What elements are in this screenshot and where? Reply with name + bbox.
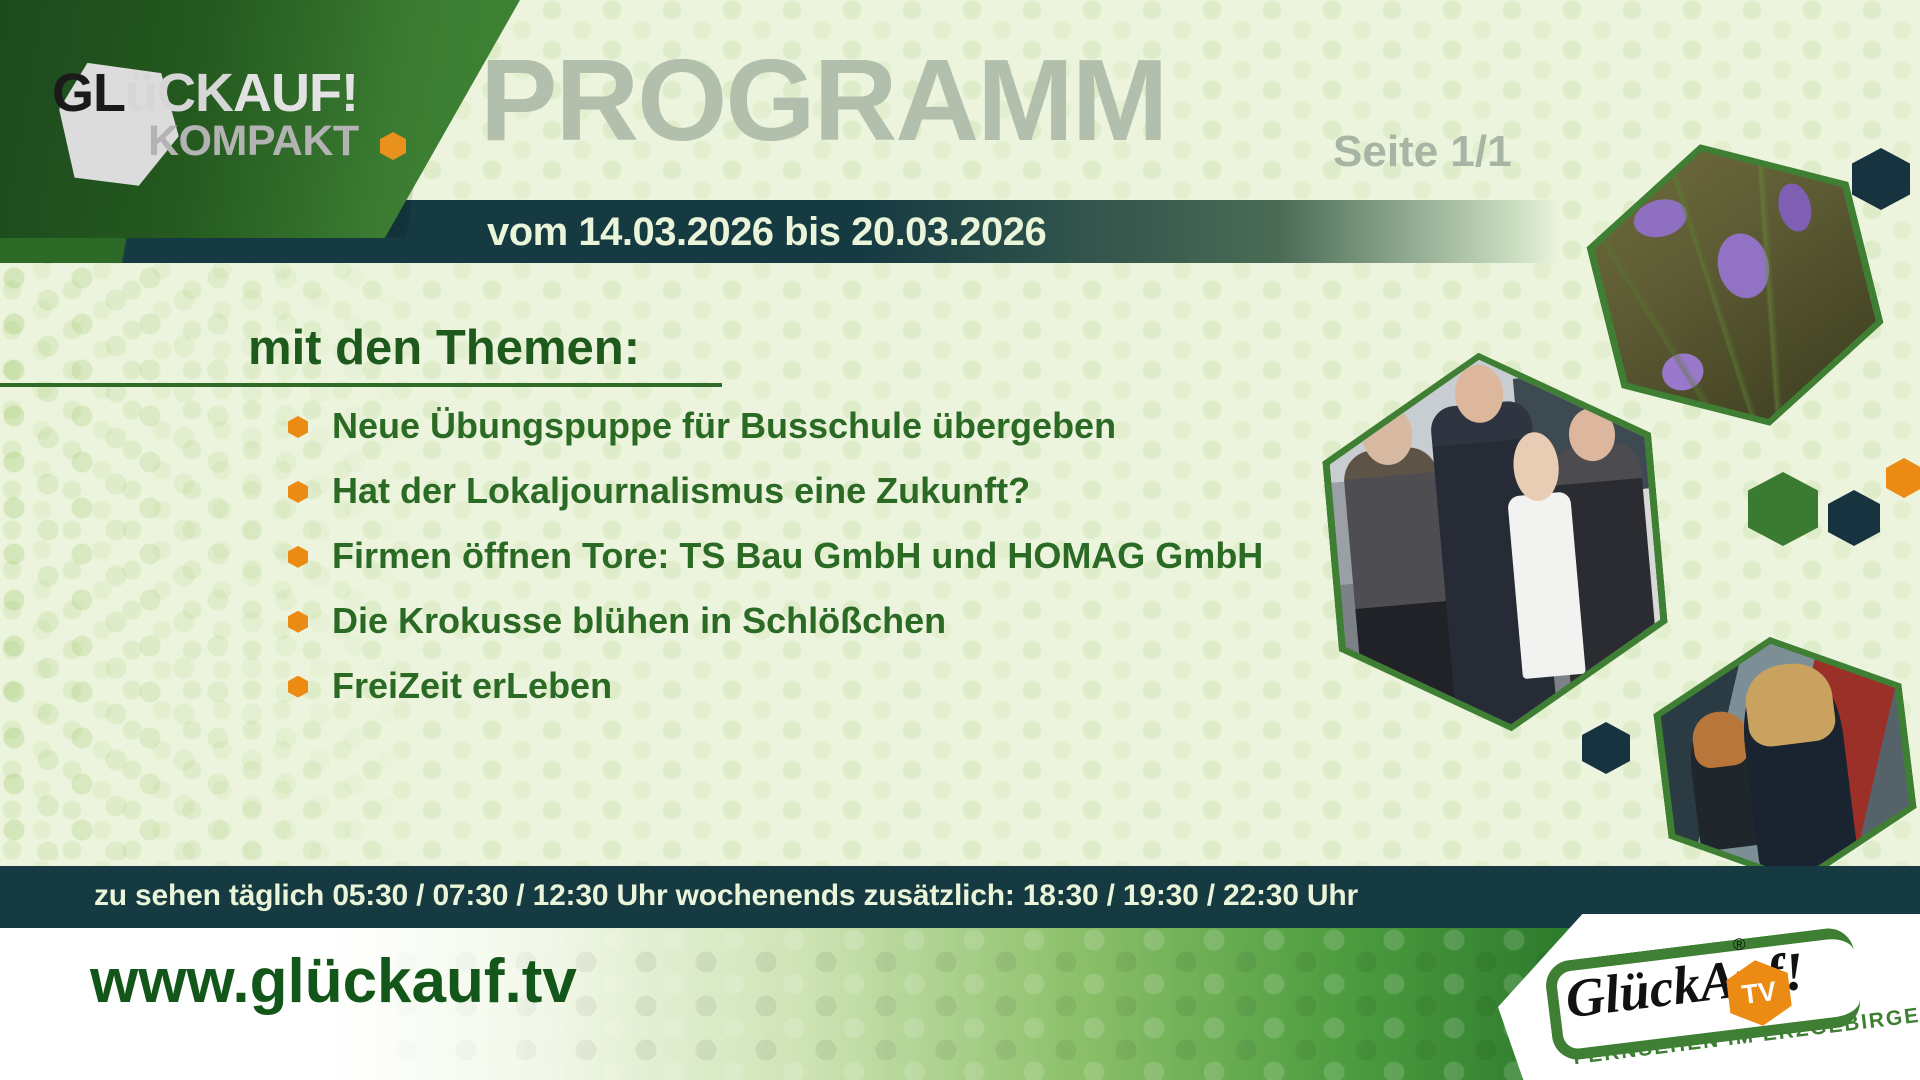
topics-heading: mit den Themen: xyxy=(248,322,640,376)
glueckauf-kompakt-logo: GLüCKAUF! KOMPAKT xyxy=(52,48,402,188)
decorative-hexagon-teal-top xyxy=(1852,148,1910,210)
topic-label: Die Krokusse blühen in Schlößchen xyxy=(332,600,946,641)
topic-label: Neue Übungspuppe für Busschule übergeben xyxy=(332,405,1116,446)
hexagon-bullet-icon xyxy=(288,546,308,568)
topic-label: Firmen öffnen Tore: TS Bau GmbH und HOMA… xyxy=(332,535,1263,576)
logo-text-gl: GL xyxy=(52,63,125,123)
logo-text-kompakt: KOMPAKT xyxy=(148,120,359,163)
decorative-hexagon-teal-mid xyxy=(1828,490,1880,546)
decorative-hexagon-green-mid xyxy=(1748,472,1818,546)
list-item: Neue Übungspuppe für Busschule übergeben xyxy=(288,404,1358,448)
topic-label: Hat der Lokaljournalismus eine Zukunft? xyxy=(332,470,1030,511)
busschule-group-photo xyxy=(1314,338,1676,745)
hexagon-bullet-icon xyxy=(288,676,308,698)
decorative-hexagon-orange xyxy=(1886,458,1920,498)
hexagon-bullet-icon xyxy=(288,416,308,438)
crocus-flowers-photo xyxy=(1569,112,1901,459)
hexagon-bullet-icon xyxy=(288,481,308,503)
page-title: PROGRAMM xyxy=(480,42,1166,158)
list-item: Hat der Lokaljournalismus eine Zukunft? xyxy=(288,469,1358,513)
logo-text-uck: üCK xyxy=(125,63,233,123)
broadcast-times-text: zu sehen täglich 05:30 / 07:30 / 12:30 U… xyxy=(94,879,1358,912)
youth-visitors-photo xyxy=(1646,622,1920,901)
topics-heading-underline xyxy=(0,383,722,387)
topic-label: FreiZeit erLeben xyxy=(332,665,612,706)
logo-text-auf: AUF! xyxy=(233,63,358,123)
registered-trademark-icon: ® xyxy=(1733,935,1746,955)
list-item: Die Krokusse blühen in Schlößchen xyxy=(288,599,1358,643)
date-range-text: vom 14.03.2026 bis 20.03.2026 xyxy=(487,210,1046,254)
list-item: Firmen öffnen Tore: TS Bau GmbH und HOMA… xyxy=(288,534,1358,578)
logo-wordmark-line1: GLüCKAUF! xyxy=(52,66,402,120)
tv-label: TV xyxy=(1740,977,1778,1008)
program-poster: PROGRAMM Seite 1/1 vom 14.03.2026 bis 20… xyxy=(0,0,1920,1080)
hexagon-bullet-icon xyxy=(288,611,308,633)
topics-list: Neue Übungspuppe für Busschule übergeben… xyxy=(288,404,1358,729)
page-number-label: Seite 1/1 xyxy=(1333,130,1512,174)
decorative-hexagon-teal-lower xyxy=(1582,722,1630,774)
website-url[interactable]: www.glückauf.tv xyxy=(90,945,577,1019)
list-item: FreiZeit erLeben xyxy=(288,664,1358,708)
